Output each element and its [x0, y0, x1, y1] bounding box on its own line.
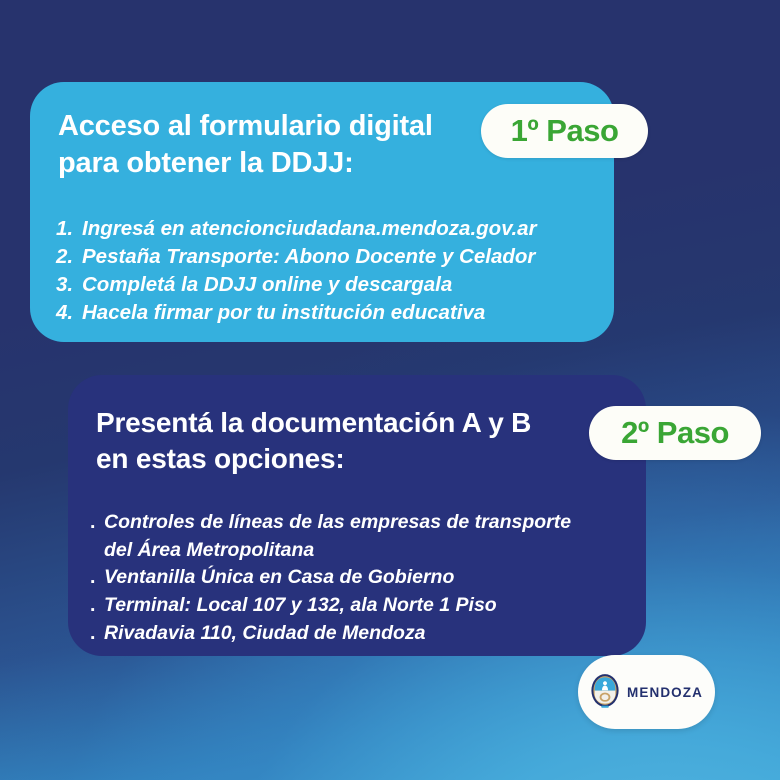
list-item-text: Controles de líneas de las empresas de t…	[104, 509, 574, 564]
bullet-icon: .	[90, 620, 104, 648]
list-item: . Ventanilla Única en Casa de Gobierno	[90, 564, 635, 592]
list-item-number: 1.	[56, 215, 82, 243]
list-item-number: 4.	[56, 299, 82, 327]
list-item-text: Ventanilla Única en Casa de Gobierno	[104, 564, 574, 592]
step-1-instruction-list: 1. Ingresá en atencionciudadana.mendoza.…	[56, 215, 606, 327]
step-1-badge-label: 1º Paso	[511, 113, 619, 149]
step-2-badge-label: 2º Paso	[621, 415, 729, 451]
list-item-text: Rivadavia 110, Ciudad de Mendoza	[104, 620, 574, 648]
list-item: . Terminal: Local 107 y 132, ala Norte 1…	[90, 592, 635, 620]
list-item-number: 3.	[56, 271, 82, 299]
step-2-title: Presentá la documentación A y B en estas…	[96, 405, 616, 478]
mendoza-wordmark: MENDOZA	[627, 685, 703, 700]
step-1-title-line-1: Acceso al formulario digital	[58, 108, 528, 145]
step-2-options-list: . Controles de líneas de las empresas de…	[90, 509, 635, 647]
list-item: 1. Ingresá en atencionciudadana.mendoza.…	[56, 215, 606, 243]
mendoza-coat-of-arms-icon	[590, 673, 620, 711]
list-item: . Controles de líneas de las empresas de…	[90, 509, 635, 564]
bullet-icon: .	[90, 509, 104, 537]
step-2-card: Presentá la documentación A y B en estas…	[68, 375, 646, 656]
list-item-text: Ingresá en atencionciudadana.mendoza.gov…	[82, 215, 606, 243]
list-item-number: 2.	[56, 243, 82, 271]
bullet-icon: .	[90, 592, 104, 620]
step-2-title-line-2: en estas opciones:	[96, 441, 616, 477]
step-1-title: Acceso al formulario digital para obtene…	[58, 108, 528, 181]
step-2-title-line-1: Presentá la documentación A y B	[96, 405, 616, 441]
list-item: 4. Hacela firmar por tu institución educ…	[56, 299, 606, 327]
list-item-text: Completá la DDJJ online y descargala	[82, 271, 606, 299]
list-item-text: Hacela firmar por tu institución educati…	[82, 299, 606, 327]
list-item: 3. Completá la DDJJ online y descargala	[56, 271, 606, 299]
list-item: 2. Pestaña Transporte: Abono Docente y C…	[56, 243, 606, 271]
list-item-text: Pestaña Transporte: Abono Docente y Cela…	[82, 243, 606, 271]
step-1-badge: 1º Paso	[481, 104, 648, 158]
poster-canvas: Acceso al formulario digital para obtene…	[0, 0, 780, 780]
step-2-badge: 2º Paso	[589, 406, 761, 460]
bullet-icon: .	[90, 564, 104, 592]
mendoza-logo: MENDOZA	[578, 655, 715, 729]
list-item-text: Terminal: Local 107 y 132, ala Norte 1 P…	[104, 592, 574, 620]
step-1-title-line-2: para obtener la DDJJ:	[58, 145, 528, 182]
list-item: . Rivadavia 110, Ciudad de Mendoza	[90, 620, 635, 648]
